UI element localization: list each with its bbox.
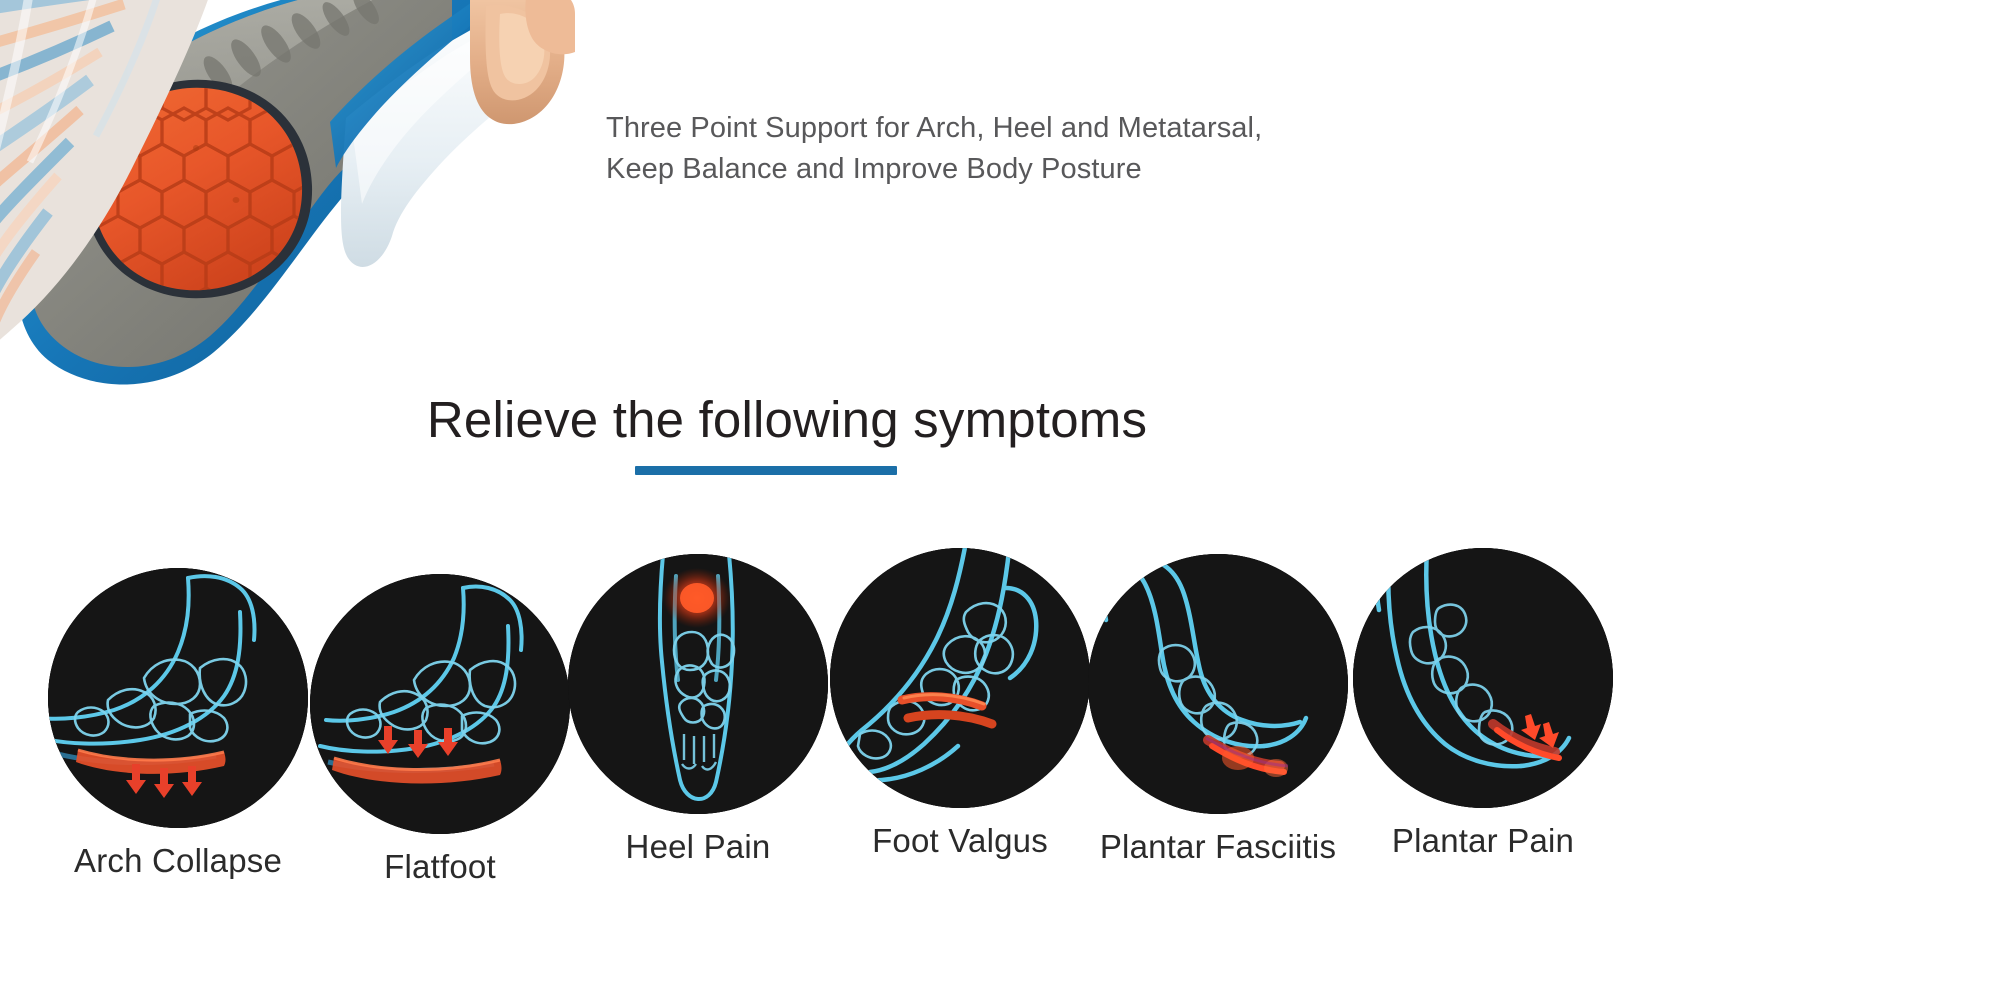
headline-line-2: Keep Balance and Improve Body Posture <box>600 149 1380 190</box>
symptom-item-arch-collapse: Arch Collapse <box>40 568 316 880</box>
symptom-list: Arch Collapse <box>0 568 2000 968</box>
foot-valgus-icon <box>830 548 1090 808</box>
symptom-item-plantar-pain: Plantar Pain <box>1345 548 1621 860</box>
section-title-underline <box>635 466 897 475</box>
symptom-item-plantar-fasciitis: Plantar Fasciitis <box>1080 554 1356 866</box>
foot-flatfoot-icon <box>310 574 570 834</box>
symptom-label: Flatfoot <box>302 848 578 886</box>
headline: Three Point Support for Arch, Heel and M… <box>600 108 1380 190</box>
symptom-label: Foot Valgus <box>822 822 1098 860</box>
headline-line-1: Three Point Support for Arch, Heel and M… <box>600 108 1380 149</box>
symptom-item-heel-pain: Heel Pain <box>560 554 836 866</box>
foot-plantar-pain-icon <box>1353 548 1613 808</box>
symptom-item-flatfoot: Flatfoot <box>302 574 578 886</box>
foot-heel-pain-icon <box>568 554 828 814</box>
foot-plantar-fasciitis-icon <box>1088 554 1348 814</box>
symptom-label: Plantar Pain <box>1345 822 1621 860</box>
section-title: Relieve the following symptoms <box>427 390 1147 449</box>
product-photo <box>0 0 575 430</box>
symptom-label: Heel Pain <box>560 828 836 866</box>
symptom-item-foot-valgus: Foot Valgus <box>822 548 1098 860</box>
foot-arch-collapse-icon <box>48 568 308 828</box>
symptom-label: Arch Collapse <box>40 842 316 880</box>
promo-banner: Three Point Support for Arch, Heel and M… <box>0 0 2000 1000</box>
symptom-label: Plantar Fasciitis <box>1080 828 1356 866</box>
